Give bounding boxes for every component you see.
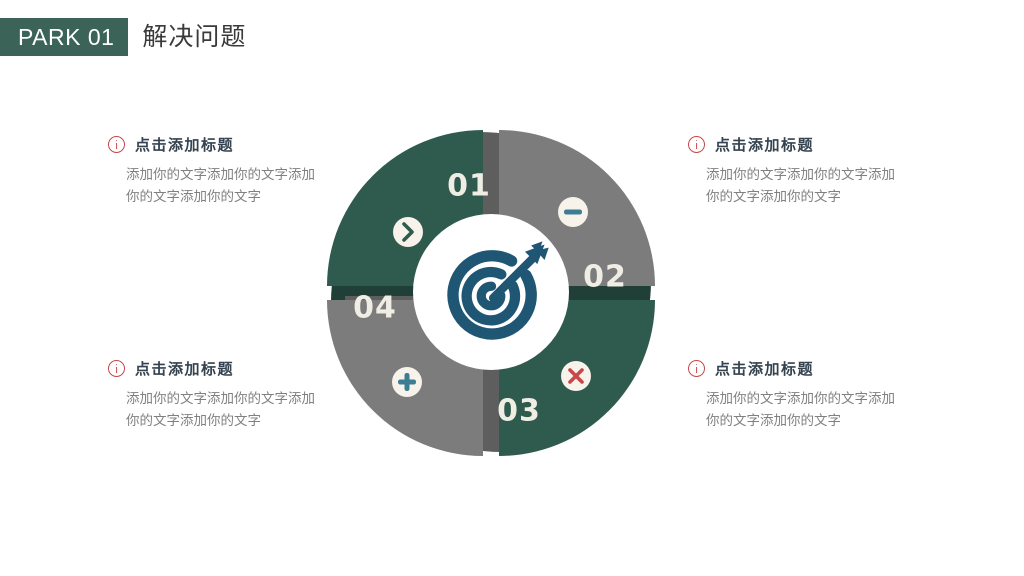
info-icon — [108, 136, 125, 153]
text-block-heading: 点击添加标题 — [108, 358, 338, 379]
slide-header: PARK 01 解决问题 — [0, 18, 246, 56]
text-block-heading: 点击添加标题 — [108, 134, 338, 155]
text-block-top-left[interactable]: 点击添加标题 添加你的文字添加你的文字添加你的文字添加你的文字 — [108, 134, 338, 209]
text-block-title: 点击添加标题 — [135, 134, 234, 155]
donut-diagram: 01 02 03 — [325, 126, 657, 458]
info-icon — [108, 360, 125, 377]
text-block-body: 添加你的文字添加你的文字添加你的文字添加你的文字 — [688, 389, 900, 433]
text-block-body: 添加你的文字添加你的文字添加你的文字添加你的文字 — [108, 389, 320, 433]
info-icon — [688, 136, 705, 153]
page-title: 解决问题 — [128, 18, 246, 56]
text-block-top-right[interactable]: 点击添加标题 添加你的文字添加你的文字添加你的文字添加你的文字 — [688, 134, 918, 209]
text-block-heading: 点击添加标题 — [688, 134, 918, 155]
text-block-body: 添加你的文字添加你的文字添加你的文字添加你的文字 — [688, 165, 900, 209]
text-block-title: 点击添加标题 — [135, 358, 234, 379]
segment-number-01: 01 — [447, 169, 491, 204]
header-badge: PARK 01 — [0, 18, 128, 56]
donut-center-hole — [413, 214, 569, 370]
text-block-heading: 点击添加标题 — [688, 358, 918, 379]
segment-number-03: 03 — [497, 394, 541, 429]
text-block-bottom-left[interactable]: 点击添加标题 添加你的文字添加你的文字添加你的文字添加你的文字 — [108, 358, 338, 433]
text-block-title: 点击添加标题 — [715, 134, 814, 155]
segment-number-02: 02 — [583, 260, 627, 295]
minus-icon — [558, 197, 588, 227]
text-block-body: 添加你的文字添加你的文字添加你的文字添加你的文字 — [108, 165, 320, 209]
close-x-icon — [561, 361, 591, 391]
text-block-title: 点击添加标题 — [715, 358, 814, 379]
plus-icon — [392, 367, 422, 397]
info-icon — [688, 360, 705, 377]
chevron-right-icon — [393, 217, 423, 247]
text-block-bottom-right[interactable]: 点击添加标题 添加你的文字添加你的文字添加你的文字添加你的文字 — [688, 358, 918, 433]
segment-number-04: 04 — [353, 291, 397, 326]
slide-root: PARK 01 解决问题 点击添加标题 添加你的文字添加你的文字添加你的文字添加… — [0, 0, 1024, 576]
